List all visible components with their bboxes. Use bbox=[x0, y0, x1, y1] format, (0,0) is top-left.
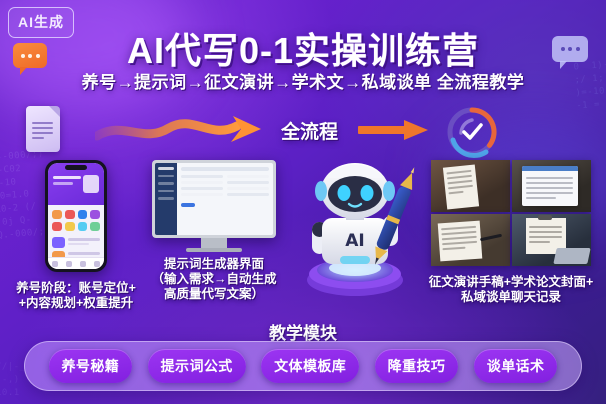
svg-text:AI: AI bbox=[345, 231, 364, 251]
modules-bar: 养号秘籍 提示词公式 文体模板库 降重技巧 谈单话术 bbox=[24, 341, 582, 391]
monitor-content bbox=[177, 163, 273, 235]
smartphone-mockup bbox=[45, 160, 107, 272]
photo-laptop-chat bbox=[512, 214, 591, 266]
page-subtitle: 养号→提示词→征文演讲→学术文→私域谈单 全流程教学 bbox=[0, 68, 606, 93]
photo-paper-clipboard bbox=[431, 214, 510, 266]
photo-grid bbox=[431, 160, 591, 266]
progress-ring-check-icon bbox=[443, 103, 501, 161]
photo-document-window bbox=[512, 160, 591, 212]
flow-label: 全流程 bbox=[281, 117, 338, 144]
swoosh-arrow-icon bbox=[95, 110, 275, 152]
right-arrow-icon bbox=[358, 119, 430, 141]
module-pill-1[interactable]: 养号秘籍 bbox=[49, 349, 133, 383]
phone-icon-grid bbox=[48, 205, 104, 234]
page-title: AI代写0-1实操训练营 bbox=[0, 22, 606, 74]
phone-caption: 养号阶段：账号定位+ +内容规划+权重提升 bbox=[12, 281, 140, 311]
module-pill-4[interactable]: 降重技巧 bbox=[375, 349, 459, 383]
process-band: 全流程 bbox=[0, 100, 606, 162]
module-pill-2[interactable]: 提示词公式 bbox=[148, 349, 246, 383]
card-monitor: 提示词生成器界面 （输入需求→自动生成 高质量代写文案） bbox=[146, 160, 282, 302]
document-icon bbox=[26, 106, 60, 152]
monitor-caption: 提示词生成器界面 （输入需求→自动生成 高质量代写文案） bbox=[146, 257, 282, 302]
monitor-caption-line-1: 提示词生成器界面 bbox=[146, 257, 282, 272]
card-phone: 养号阶段：账号定位+ +内容规划+权重提升 bbox=[12, 160, 140, 311]
photo-speech-draft bbox=[431, 160, 510, 212]
module-pill-5[interactable]: 谈单话术 bbox=[474, 349, 558, 383]
monitor-sidebar bbox=[155, 163, 177, 235]
photos-caption: 征文演讲手稿+学术论文封面+ 私域谈单聊天记录 bbox=[428, 275, 594, 305]
phone-tabbar bbox=[48, 257, 104, 269]
ai-robot-mascot-icon: AI bbox=[288, 156, 422, 306]
monitor-stand bbox=[201, 238, 227, 248]
card-robot: AI bbox=[288, 156, 422, 311]
phone-notch bbox=[65, 165, 87, 170]
desktop-monitor-mockup bbox=[152, 160, 276, 252]
phone-caption-line-1: 养号阶段：账号定位+ bbox=[12, 281, 140, 296]
monitor-base bbox=[186, 248, 242, 252]
poster-canvas: 0--000/;) (-C02 )-10 Q0=1.0 R0-2 (/ '0j … bbox=[0, 0, 606, 404]
module-pill-3[interactable]: 文体模板库 bbox=[261, 349, 359, 383]
code-texture-bottom: //|-_ '-,) 10.1 bbox=[0, 361, 26, 400]
monitor-caption-line-2: （输入需求→自动生成 bbox=[146, 272, 282, 287]
photos-caption-line-1: 征文演讲手稿+学术论文封面+ bbox=[428, 275, 594, 290]
photos-caption-line-2: 私域谈单聊天记录 bbox=[428, 290, 594, 305]
card-photos: 征文演讲手稿+学术论文封面+ 私域谈单聊天记录 bbox=[428, 160, 594, 305]
cards-row: 养号阶段：账号定位+ +内容规划+权重提升 bbox=[0, 160, 606, 310]
phone-caption-line-2: +内容规划+权重提升 bbox=[12, 296, 140, 311]
monitor-caption-line-3: 高质量代写文案） bbox=[146, 287, 282, 302]
